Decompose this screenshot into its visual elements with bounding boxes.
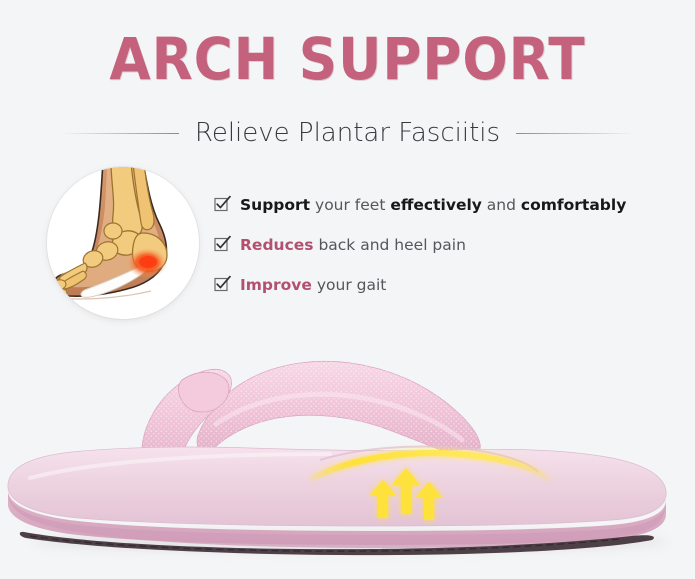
- divider-left: [61, 133, 179, 134]
- benefit-segment: Support: [240, 196, 310, 214]
- list-item: Improve your gait: [214, 273, 684, 295]
- benefit-segment: back and heel pain: [314, 236, 466, 254]
- list-item: Reduces back and heel pain: [214, 233, 684, 255]
- page-subtitle: Relieve Plantar Fasciitis: [195, 118, 500, 148]
- list-item: Support your feet effectively and comfor…: [214, 193, 684, 215]
- page-title: ARCH SUPPORT: [28, 28, 667, 90]
- divider-right: [516, 133, 634, 134]
- foot-anatomy-icon: [47, 167, 199, 319]
- foot-anatomy-illustration: [47, 167, 199, 319]
- benefit-text: Improve your gait: [240, 275, 386, 295]
- sandal-footbed: [8, 447, 666, 527]
- benefit-segment: Reduces: [240, 236, 314, 254]
- benefit-segment: Improve: [240, 276, 312, 294]
- benefit-text: Reduces back and heel pain: [240, 235, 466, 255]
- benefit-text: Support your feet effectively and comfor…: [240, 195, 626, 215]
- benefit-segment: and: [482, 196, 521, 214]
- product-feature-banner: ARCH SUPPORT Relieve Plantar Fasciitis: [0, 0, 695, 579]
- product-image-sandal: [0, 340, 695, 579]
- benefit-segment: comfortably: [521, 196, 626, 214]
- benefit-list: Support your feet effectively and comfor…: [214, 193, 684, 313]
- benefit-segment: your feet: [310, 196, 390, 214]
- subtitle-row: Relieve Plantar Fasciitis: [0, 118, 695, 148]
- sandal-illustration: [0, 340, 695, 579]
- benefit-segment: your gait: [312, 276, 386, 294]
- checkbox-checked-icon: [214, 195, 231, 212]
- benefit-segment: effectively: [390, 196, 482, 214]
- checkbox-checked-icon: [214, 235, 231, 252]
- checkbox-checked-icon: [214, 275, 231, 292]
